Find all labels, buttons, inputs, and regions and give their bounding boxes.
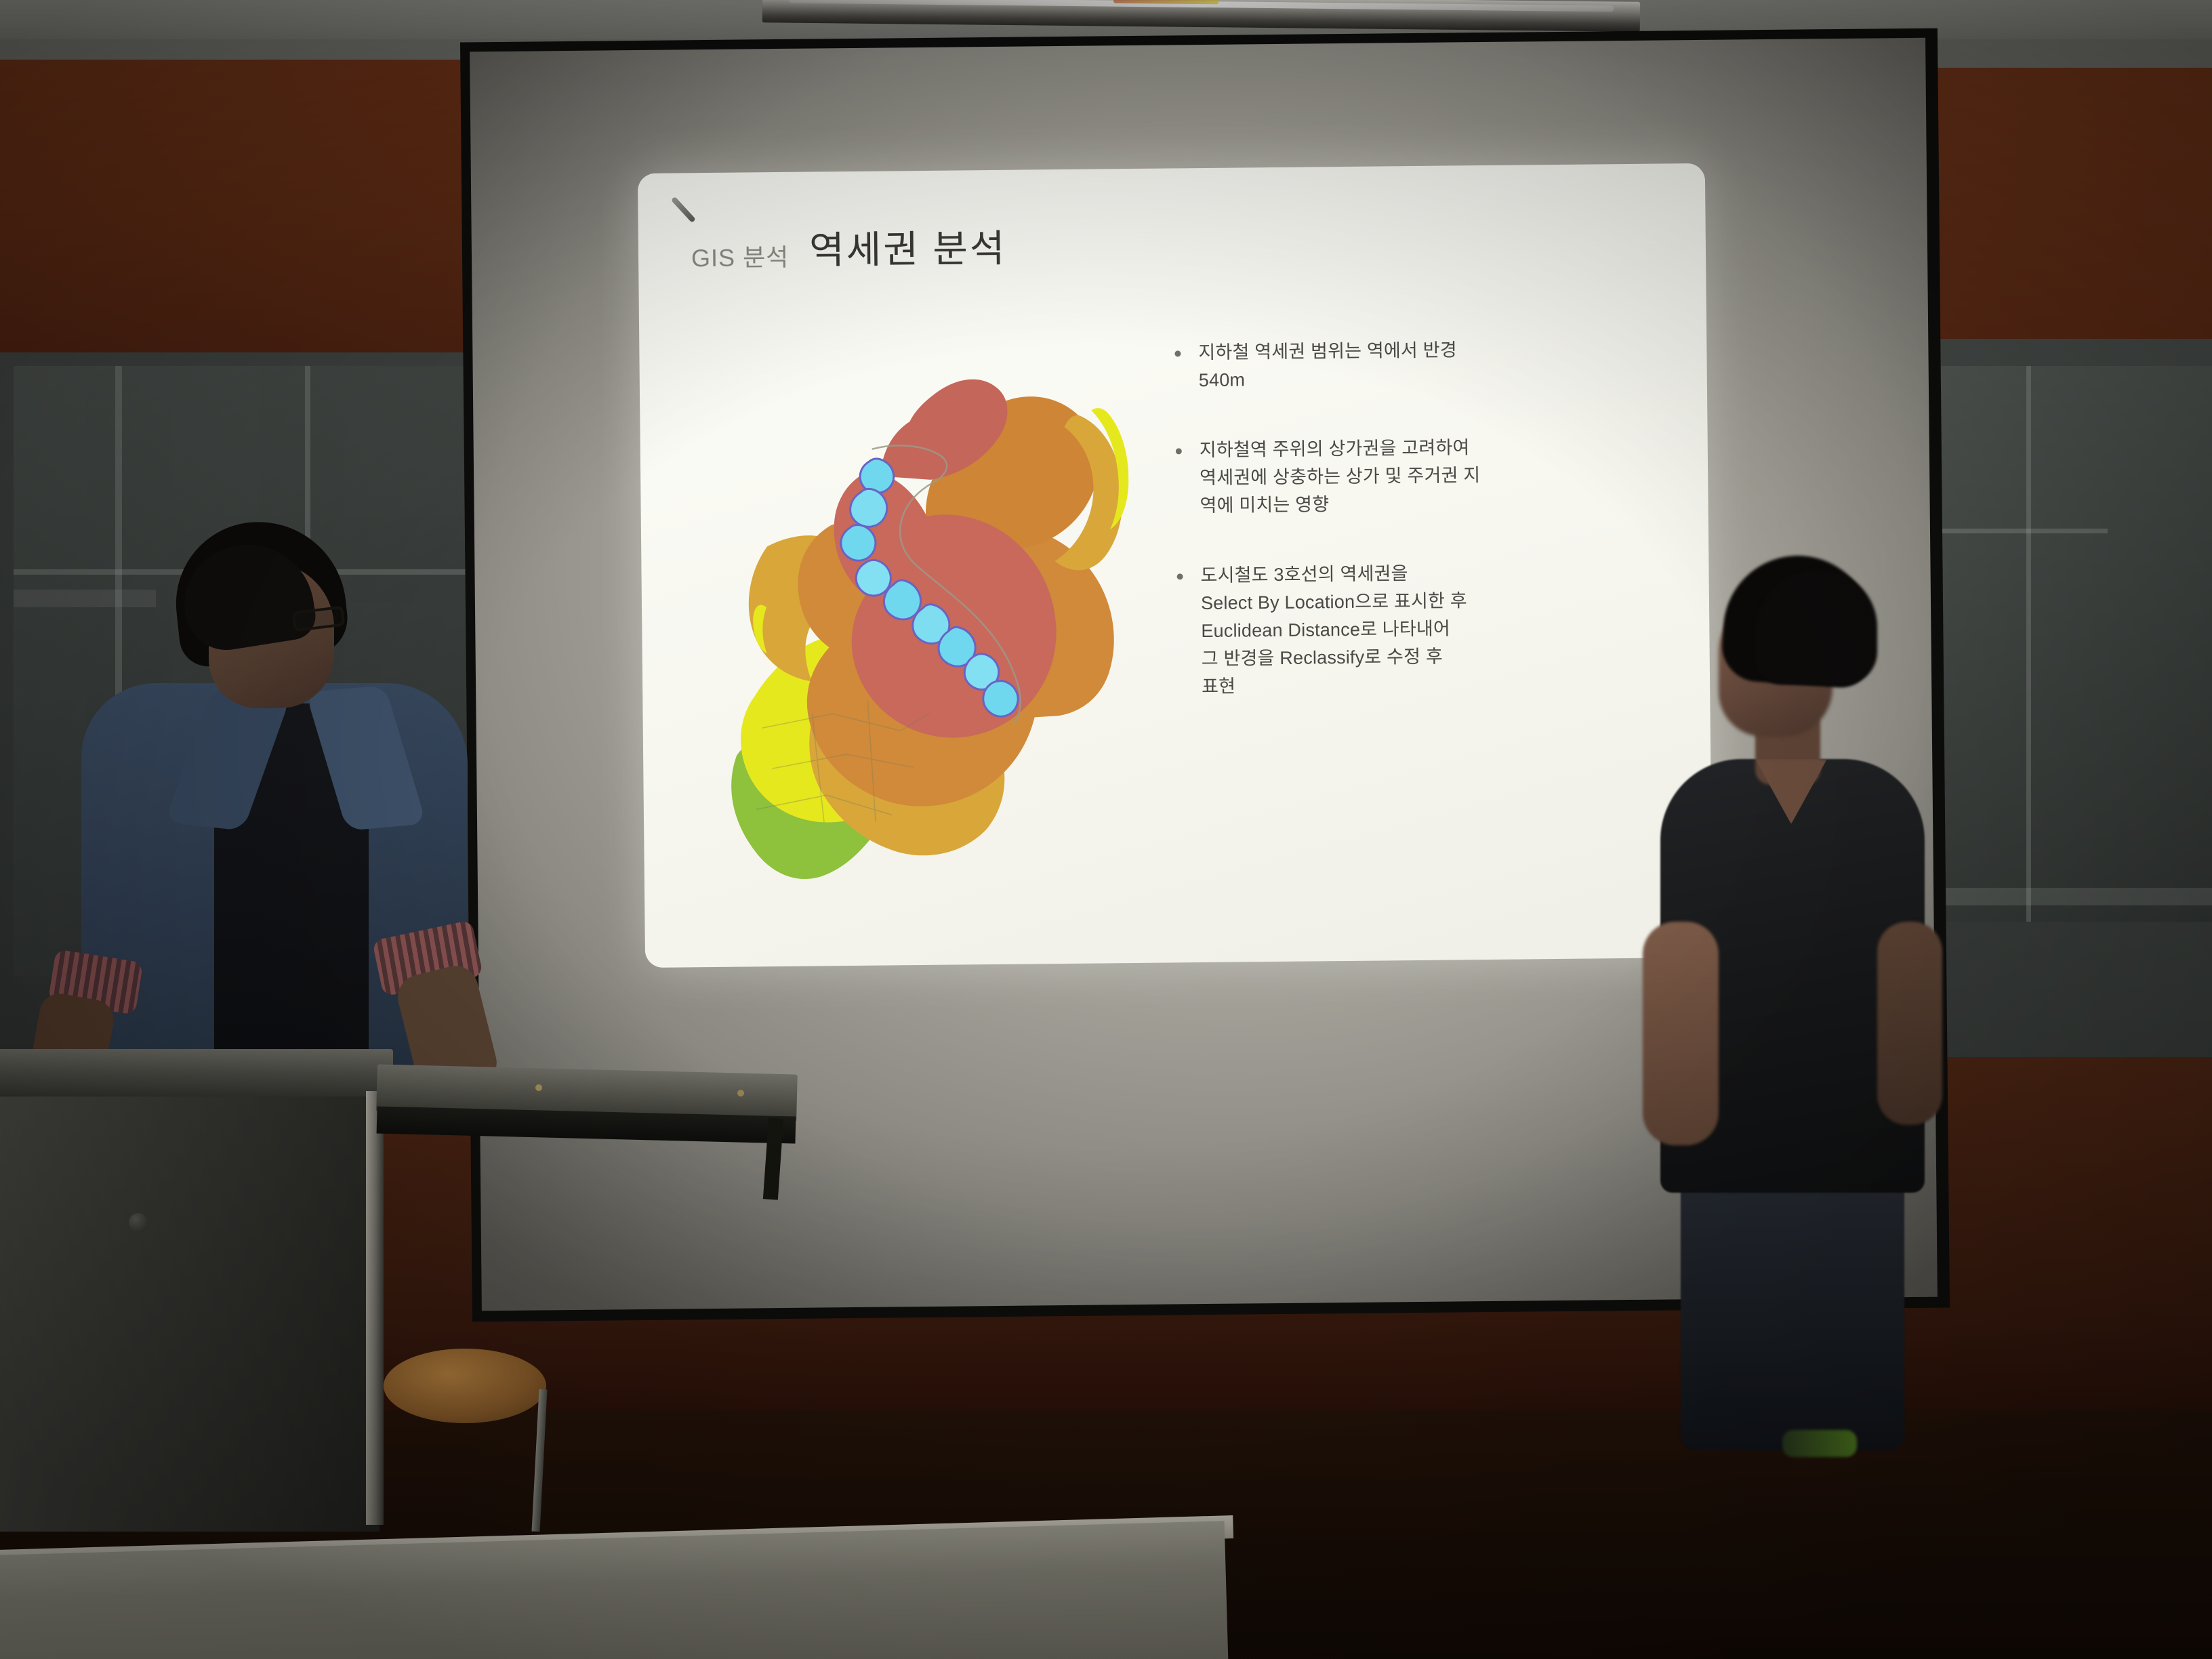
slide-subtitle: GIS 분석 [691,245,790,270]
slide-title-group: GIS 분석 역세권 분석 [691,230,1007,270]
stool-seat [384,1349,546,1423]
classroom-scene: GIS 분석 역세권 분석 [0,0,2212,1659]
bullet-text: 도시철도 3호선의 역세권을 Select By Location으로 표시한 … [1200,559,1468,701]
podium-body [0,1057,380,1532]
presenter-left [54,522,515,1098]
podium-top [0,1049,393,1097]
wood-panel-left [0,60,474,378]
presentation-slide: GIS 분석 역세권 분석 [638,163,1713,968]
arm-right [1877,922,1942,1125]
podium-knob [129,1213,148,1232]
shelf-screw-icon [535,1084,542,1091]
bullet-dot-icon [1174,350,1181,356]
podium-post [366,1091,384,1525]
slide-bullet-list: 지하철 역세권 범위는 역에서 반경 540m 지하철역 주위의 상가권을 고려… [1174,334,1680,743]
page-title: 역세권 분석 [809,230,1007,270]
shoe [1782,1430,1857,1457]
bullet-dot-icon [1176,448,1182,454]
bullet-text: 지하철 역세권 범위는 역에서 반경 540m [1198,336,1457,394]
bullet-dot-icon [1177,573,1183,579]
slash-decor-icon [671,197,696,223]
arm-left [1643,922,1719,1145]
list-item: 도시철도 3호선의 역세권을 Select By Location으로 표시한 … [1176,557,1679,701]
list-item: 지하철역 주위의 상가권을 고려하여 역세권에 상충하는 상가 및 주거권 지 … [1176,432,1678,520]
jeans [1681,1166,1904,1450]
gis-raster-map [693,345,1132,884]
presenter-right [1654,556,1938,1450]
map-svg [693,345,1132,884]
list-item: 지하철 역세권 범위는 역에서 반경 540m [1174,334,1677,394]
shelf-screw-icon [737,1090,744,1097]
bullet-text: 지하철역 주위의 상가권을 고려하여 역세권에 상충하는 상가 및 주거권 지 … [1200,434,1481,520]
